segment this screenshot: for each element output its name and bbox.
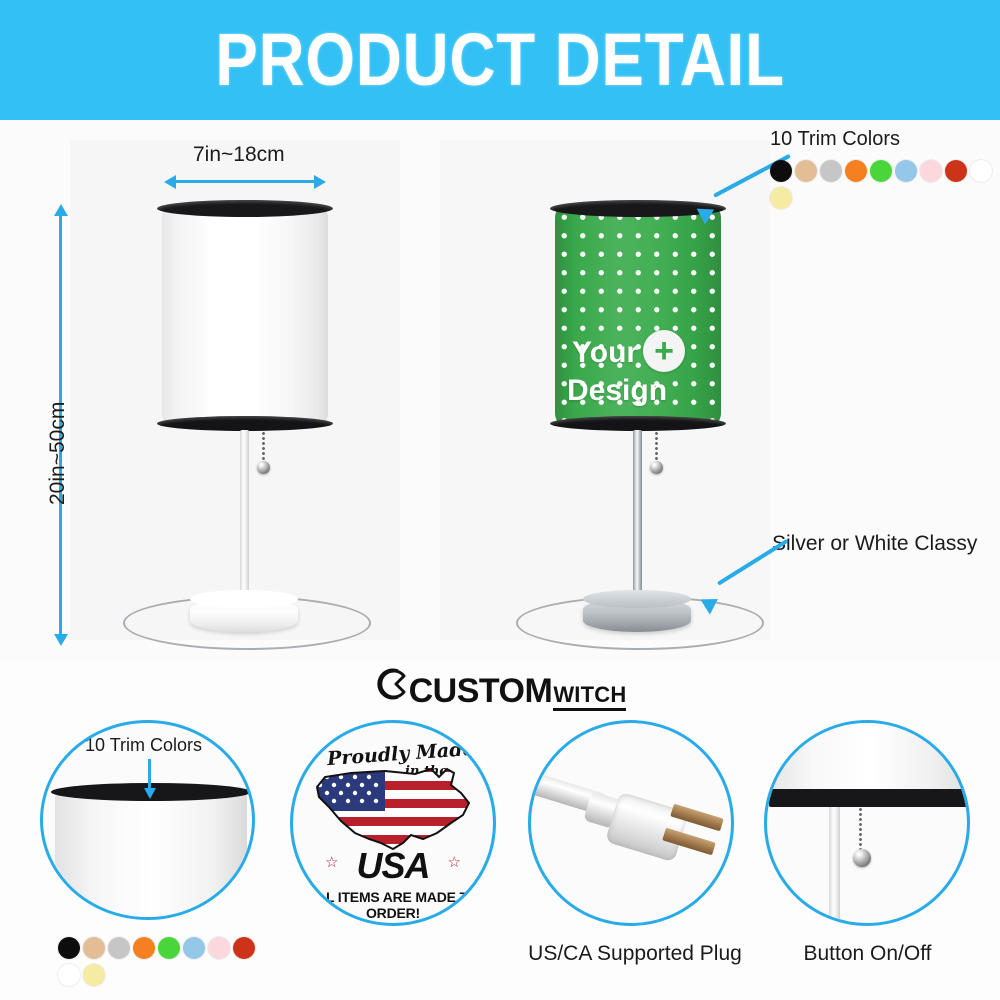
logo-primary-text: CUSTOM: [409, 674, 553, 708]
feature-button-onoff: Button On/Off: [760, 720, 975, 1000]
trim-swatch-gray[interactable]: [820, 160, 842, 182]
trim-swatch-pink[interactable]: [920, 160, 942, 182]
button-feature-shade: [767, 723, 970, 797]
feature-circle-button-onoff: [764, 720, 970, 926]
button-feature-chain-ball[interactable]: [853, 849, 871, 867]
feature-circle-plug: [528, 720, 734, 926]
header-banner: PRODUCT DETAIL: [0, 0, 1000, 120]
trim-swatch-yellow[interactable]: [83, 964, 105, 986]
usa-big-text: USA: [293, 845, 493, 887]
pull-chain-ball-right[interactable]: [650, 461, 663, 474]
plug-body: [605, 792, 689, 863]
add-design-plus-icon[interactable]: +: [643, 330, 685, 372]
lamp-base-top-silver: [583, 590, 691, 608]
trim-swatch-black[interactable]: [770, 160, 792, 182]
trim-swatch-orange[interactable]: [133, 937, 155, 959]
trim-swatch-pink[interactable]: [208, 937, 230, 959]
button-feature-pole: [829, 807, 840, 926]
trim-swatch-green[interactable]: [158, 937, 180, 959]
width-dimension-arrow: [175, 180, 315, 183]
feature-trim-swatch-row[interactable]: [58, 937, 258, 991]
trim-swatch-white[interactable]: [970, 160, 992, 182]
usa-star-right-icon: ☆: [448, 853, 461, 871]
feature-trim-colors: 10 Trim Colors: [40, 720, 255, 1000]
button-feature-black-rim: [769, 789, 970, 807]
feature-trim-colors-label: 10 Trim Colors: [85, 735, 202, 756]
shade-trim-top-left: [157, 200, 333, 217]
trim-swatch-red[interactable]: [945, 160, 967, 182]
trim-swatch-orange[interactable]: [845, 160, 867, 182]
trim-color-swatch-row[interactable]: [770, 160, 1000, 214]
feature-made-in-usa: Proudly Made in the: [290, 720, 505, 1000]
shade-trim-bottom-left: [157, 416, 333, 431]
trim-colors-block-top: 10 Trim Colors: [770, 128, 1000, 214]
trim-colors-heading: 10 Trim Colors: [770, 128, 1000, 151]
your-design-line2: Design: [567, 374, 667, 408]
trim-swatch-yellow[interactable]: [770, 187, 792, 209]
pull-chain-ball-left[interactable]: [257, 461, 270, 474]
feature-circle-trim-colors: 10 Trim Colors: [40, 720, 255, 920]
logo-c-mark-icon: [374, 666, 408, 702]
brand-logo: CUSTOM WITCH: [0, 666, 1000, 711]
lamp-shade-white: [162, 208, 328, 423]
feature-row: 10 Trim Colors Proudly Made in the: [0, 712, 1000, 1000]
feature-button-caption: Button On/Off: [760, 942, 975, 966]
trim-swatch-tan[interactable]: [83, 937, 105, 959]
height-dimension-label: 20in~50cm: [46, 402, 70, 505]
trim-swatch-light-blue[interactable]: [183, 937, 205, 959]
usa-star-left-icon: ☆: [325, 853, 338, 871]
trim-swatch-gray[interactable]: [108, 937, 130, 959]
page-title: PRODUCT DETAIL: [215, 23, 784, 97]
feature-circle-made-in-usa: Proudly Made in the: [290, 720, 496, 926]
width-dimension-label: 7in~18cm: [193, 143, 285, 167]
feature-plug: US/CA Supported Plug: [520, 720, 750, 1000]
feature-plug-caption: US/CA Supported Plug: [520, 942, 750, 966]
trim-swatch-green[interactable]: [870, 160, 892, 182]
product-detail-infographic: PRODUCT DETAIL 7in~18cm 20in~50cm: [0, 0, 1000, 1000]
shade-trim-bottom-right: [550, 416, 726, 431]
button-feature-chain[interactable]: [859, 807, 862, 855]
trim-swatch-light-blue[interactable]: [895, 160, 917, 182]
logo-secondary-text: WITCH: [553, 684, 626, 711]
trim-feature-shade: [55, 791, 247, 920]
trim-swatch-tan[interactable]: [795, 160, 817, 182]
trim-swatch-black[interactable]: [58, 937, 80, 959]
lamp-shade-green: Your + Design: [555, 208, 721, 423]
lamp-base-top-white: [190, 590, 298, 608]
trim-swatch-red[interactable]: [233, 937, 255, 959]
base-finish-label: Silver or White Classy: [772, 532, 977, 556]
feature-trim-colors-arrow: [148, 759, 151, 789]
base-finish-callout-arrow: [706, 556, 816, 616]
trim-swatch-white[interactable]: [58, 964, 80, 986]
your-design-line1: Your: [572, 336, 638, 370]
usa-subtext: ALL ITEMS ARE MADE TO ORDER!: [293, 889, 493, 921]
